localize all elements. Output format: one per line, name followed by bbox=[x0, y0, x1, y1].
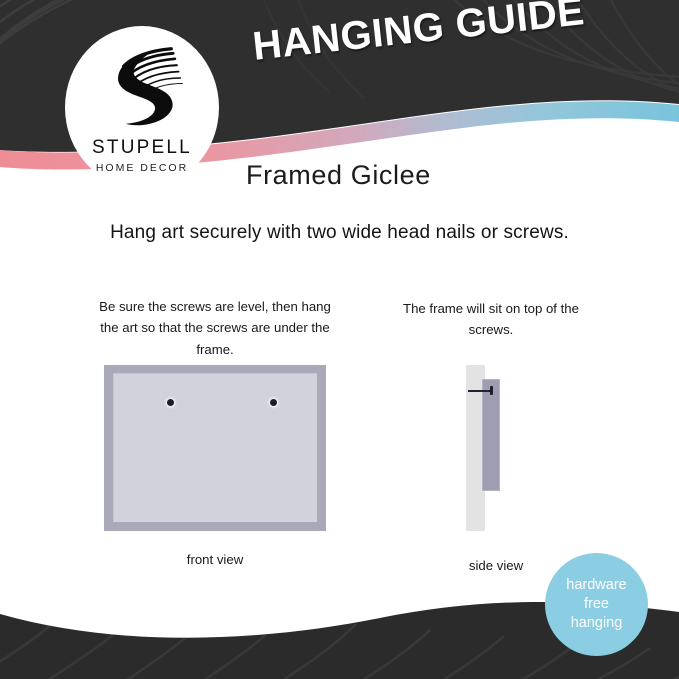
page-title: HANGING GUIDE bbox=[251, 0, 587, 70]
side-view-label: side view bbox=[426, 558, 566, 573]
screw-head-icon bbox=[490, 386, 493, 395]
badge-line-1: hardware bbox=[566, 576, 626, 595]
hanging-guide-page: STUPELL HOME DECOR HANGING GUIDE Framed … bbox=[0, 0, 679, 679]
screw-dot-right-icon bbox=[270, 399, 277, 406]
side-view-diagram bbox=[466, 365, 526, 531]
logo-wordmark: STUPELL bbox=[92, 137, 192, 159]
badge-line-3: hanging bbox=[571, 614, 623, 633]
badge-line-2: free bbox=[584, 595, 609, 614]
front-view-caption: Be sure the screws are level, then hang … bbox=[92, 296, 338, 360]
front-view-frame-interior bbox=[113, 373, 317, 522]
stupell-swoosh-icon bbox=[96, 46, 188, 132]
product-type-subtitle: Framed Giclee bbox=[246, 160, 431, 191]
main-instruction-text: Hang art securely with two wide head nai… bbox=[0, 222, 679, 244]
logo-tagline: HOME DECOR bbox=[96, 162, 188, 174]
stupell-logo-badge: STUPELL HOME DECOR bbox=[65, 26, 219, 189]
side-view-caption: The frame will sit on top of the screws. bbox=[398, 298, 584, 341]
screw-shaft-icon bbox=[468, 390, 492, 392]
frame-profile bbox=[482, 379, 500, 491]
front-view-diagram bbox=[104, 365, 326, 531]
screw-dot-left-icon bbox=[167, 399, 174, 406]
front-view-label: front view bbox=[104, 552, 326, 567]
hardware-free-hanging-badge: hardware free hanging bbox=[545, 553, 648, 656]
